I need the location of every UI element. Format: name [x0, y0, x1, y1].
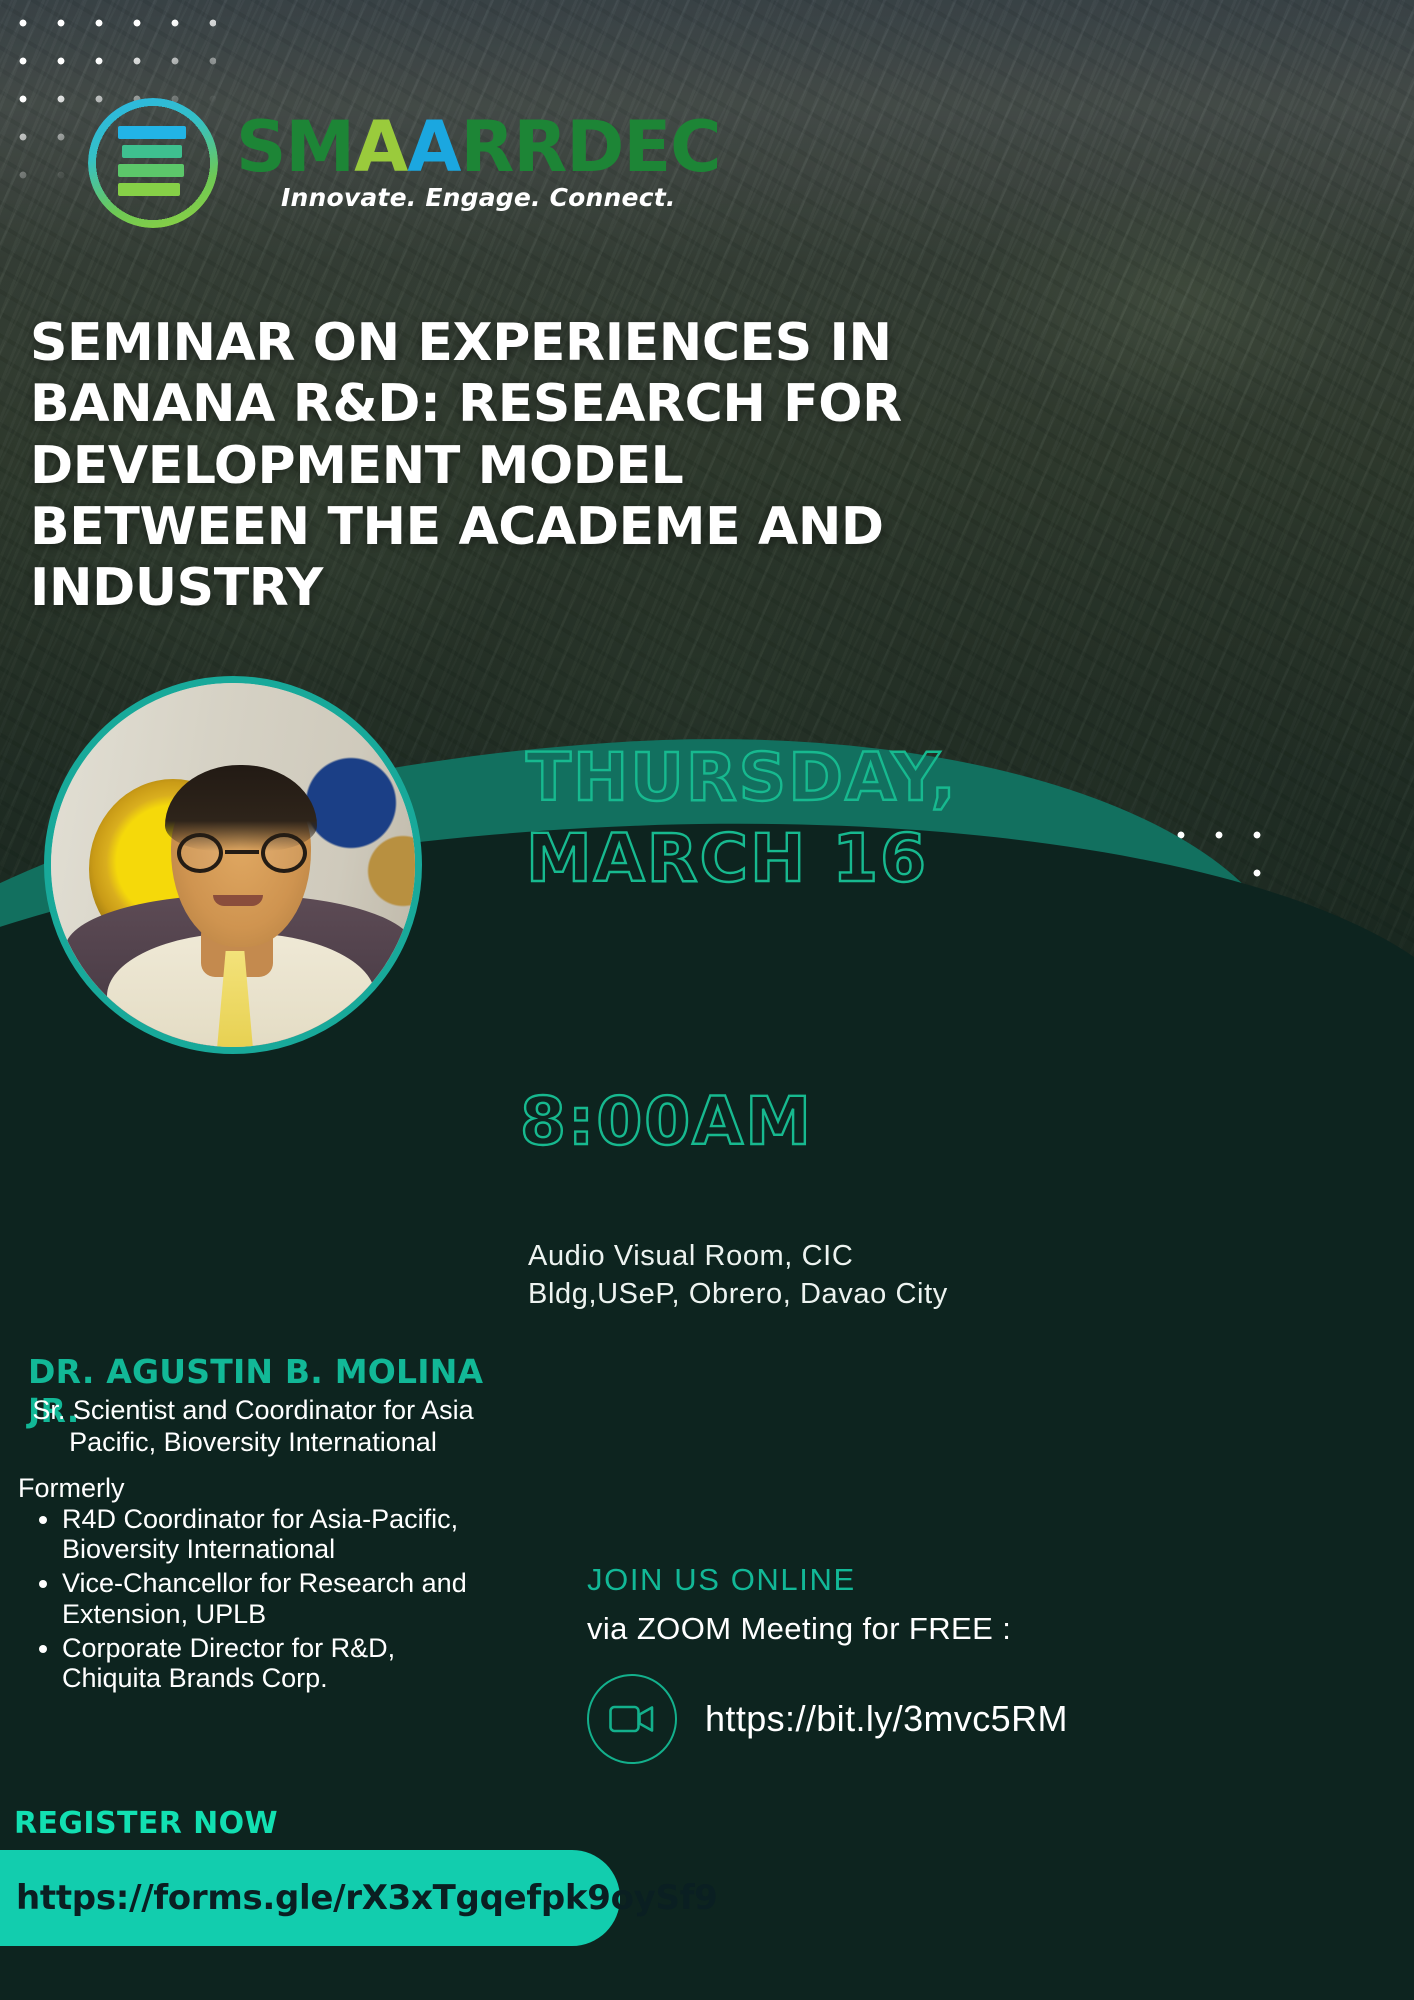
smaarrdec-emblem-icon [88, 98, 218, 228]
logo-tagline: Innovate. Engage. Connect. [236, 183, 721, 212]
logo-part-a1: A [354, 106, 407, 188]
logo-part-sm: SM [236, 106, 354, 188]
event-time: 8:00AM [520, 1083, 813, 1160]
register-link-pill[interactable]: https://forms.gle/rX3xTgqefpk9oySf9 [0, 1850, 620, 1946]
avatar [44, 676, 422, 1054]
formerly-label: Formerly [18, 1473, 125, 1504]
list-item: Corporate Director for R&D, Chiquita Bra… [62, 1633, 488, 1693]
event-date: THURSDAY, MARCH 16 [526, 738, 1146, 899]
zoom-meeting-link[interactable]: https://bit.ly/3mvc5RM [705, 1698, 1068, 1740]
join-online-heading: JOIN US ONLINE [587, 1562, 856, 1598]
event-date-value: MARCH 16 [526, 819, 1146, 900]
speaker-role: Sr. Scientist and Coordinator for Asia P… [18, 1394, 488, 1459]
logo-wordmark: SMAARRDEC [236, 114, 721, 181]
event-day: THURSDAY, [526, 739, 958, 816]
register-form-url[interactable]: https://forms.gle/rX3xTgqefpk9oySf9 [16, 1878, 718, 1918]
logo-part-a2: A [407, 106, 460, 188]
speaker-credentials-list: R4D Coordinator for Asia-Pacific, Biover… [18, 1504, 488, 1697]
register-now-label: REGISTER NOW [14, 1806, 278, 1841]
organization-logo: SMAARRDEC Innovate. Engage. Connect. [88, 98, 721, 228]
video-camera-icon [587, 1674, 677, 1764]
event-poster: SMAARRDEC Innovate. Engage. Connect. SEM… [0, 0, 1414, 2000]
zoom-link-row[interactable]: https://bit.ly/3mvc5RM [587, 1674, 1068, 1764]
event-venue: Audio Visual Room, CIC Bldg,USeP, Obrero… [528, 1238, 948, 1313]
page-title: SEMINAR ON EXPERIENCES IN BANANA R&D: RE… [30, 313, 910, 620]
join-online-subheading: via ZOOM Meeting for FREE : [587, 1611, 1011, 1647]
list-item: R4D Coordinator for Asia-Pacific, Biover… [62, 1504, 488, 1564]
logo-part-rrdec: RRDEC [460, 106, 720, 188]
list-item: Vice-Chancellor for Research and Extensi… [62, 1568, 488, 1628]
